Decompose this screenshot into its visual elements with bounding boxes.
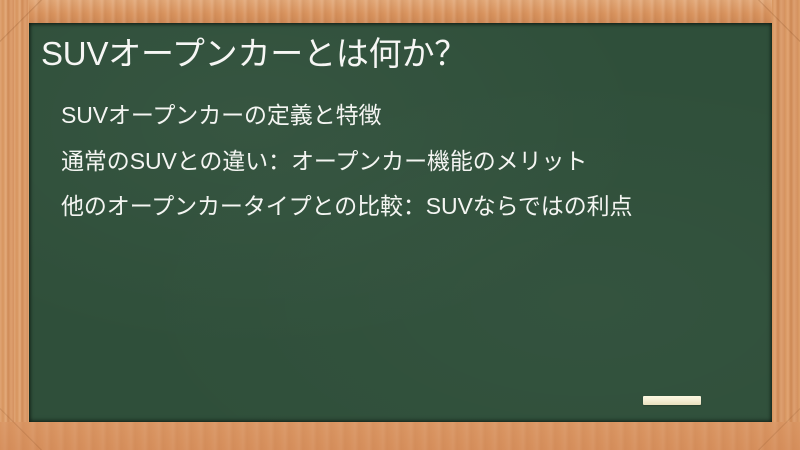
chalkboard: SUVオープンカーとは何か？ SUVオープンカーの定義と特徴 通常のSUVとの違… <box>29 23 772 422</box>
list-item: 他のオープンカータイプとの比較：SUVならではの利点 <box>61 191 744 223</box>
frame-right-rail <box>772 0 800 450</box>
frame-top-rail <box>0 0 800 23</box>
list-item: 通常のSUVとの違い：オープンカー機能のメリット <box>61 146 744 178</box>
bullet-list: SUVオープンカーの定義と特徴 通常のSUVとの違い：オープンカー機能のメリット… <box>35 100 754 223</box>
frame-left-rail <box>0 0 29 450</box>
frame-bottom-rail <box>0 422 800 450</box>
list-item: SUVオープンカーの定義と特徴 <box>61 100 744 132</box>
chalk-stick-icon <box>643 396 701 405</box>
page-title: SUVオープンカーとは何か？ <box>35 35 754 74</box>
chalkboard-slide: SUVオープンカーとは何か？ SUVオープンカーの定義と特徴 通常のSUVとの違… <box>0 0 800 450</box>
chalkboard-content: SUVオープンカーとは何か？ SUVオープンカーの定義と特徴 通常のSUVとの違… <box>29 23 772 422</box>
